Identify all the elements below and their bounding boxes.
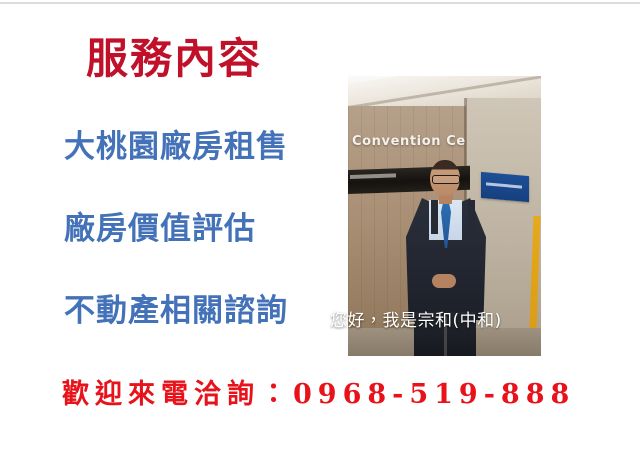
page-title: 服務內容	[86, 36, 262, 82]
contact-phone-line: 歡迎來電洽詢：0968-519-888	[62, 372, 575, 411]
service-item-3: 不動產相關諮詢	[64, 294, 288, 328]
presentation-slide: 服務內容 大桃園廠房租售 廠房價值評估 不動產相關諮詢 歡迎來電洽詢：0968-…	[0, 0, 640, 451]
photo-wall-signage-text: Convention Ce	[352, 134, 466, 149]
service-item-2: 廠房價值評估	[64, 212, 256, 246]
photo-person-lapel	[431, 200, 475, 234]
top-divider-rule	[0, 2, 640, 4]
photo-caption: 您好，我是宗和(中和)	[330, 306, 502, 331]
glasses-icon	[432, 175, 460, 184]
photo-person-hands	[432, 274, 456, 288]
service-item-1: 大桃園廠房租售	[64, 130, 288, 164]
